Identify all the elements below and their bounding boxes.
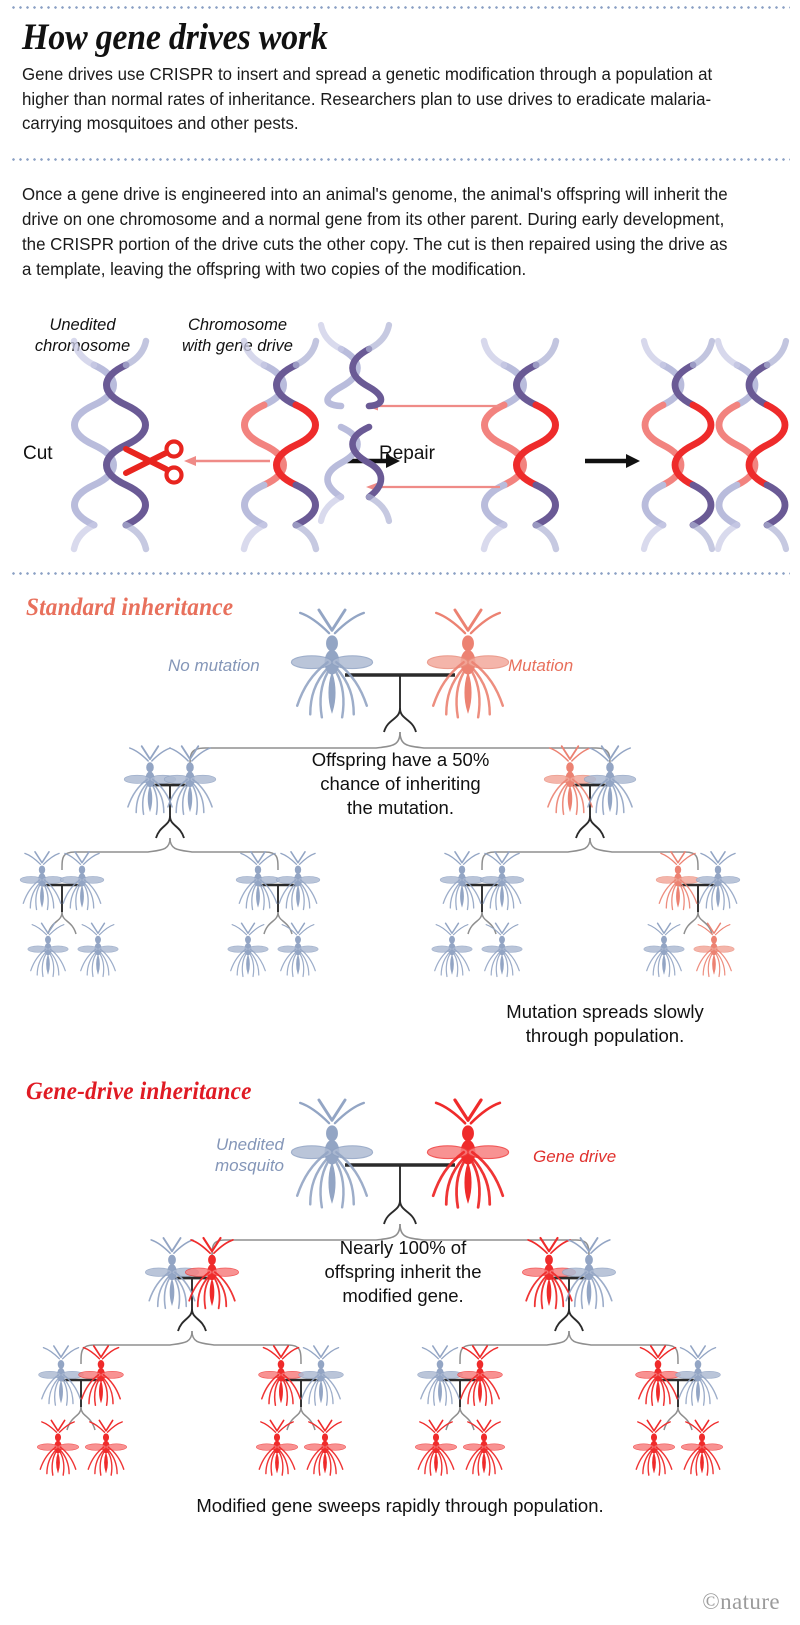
helix-fragment-top — [321, 325, 389, 406]
standfirst-text: Gene drives use CRISPR to insert and spr… — [22, 62, 740, 136]
mosquito-gen4-4 — [278, 923, 318, 976]
helix-result-left — [644, 341, 712, 549]
helix-unedited — [74, 341, 146, 549]
mosquito-gen4-2 — [78, 923, 118, 976]
mosquito-gen1-mutant — [427, 610, 508, 717]
section-title-standard: Standard inheritance — [26, 594, 233, 622]
arrow-right-icon-2 — [585, 454, 640, 468]
mosquito-gd-gen1-normal — [291, 1100, 372, 1207]
mosquito-gd-gen3-4 — [299, 1346, 344, 1405]
mosquito-gen3-7 — [656, 852, 700, 910]
mosquito-gd-gen4-4 — [304, 1420, 345, 1475]
mosquito-gd-gen1-drive — [427, 1100, 508, 1207]
mosquito-gd-gen3-2 — [79, 1346, 124, 1405]
divider-top — [10, 6, 790, 9]
pedigree-standard — [0, 620, 800, 1040]
arrow-left-icon-repair-bottom — [366, 483, 500, 492]
mosquito-gen3-4 — [276, 852, 320, 910]
mosquito-gen4-7 — [644, 923, 684, 976]
mosquito-gen3-8 — [696, 852, 740, 910]
mosquito-gen4-8 — [694, 923, 734, 976]
helix-with-drive — [244, 341, 316, 549]
mosquito-gd-gen4-7 — [633, 1420, 674, 1475]
mosquito-gd-gen4-1 — [37, 1420, 78, 1475]
helix-result-right — [718, 341, 786, 549]
mosquito-gd-gen3-6 — [458, 1346, 503, 1405]
mosquito-gd-gen4-3 — [256, 1420, 297, 1475]
page-title: How gene drives work — [22, 16, 328, 59]
mosquito-gen3-2 — [60, 852, 104, 910]
dna-diagram: Unedited chromosome Chromosome with gene… — [0, 305, 800, 570]
mosquito-gen4-6 — [482, 923, 522, 976]
mosquito-gd-gen4-5 — [415, 1420, 456, 1475]
mosquito-gd-gen4-2 — [85, 1420, 126, 1475]
nature-credit: ©nature — [702, 1589, 780, 1615]
arrow-left-icon-cut — [184, 456, 270, 466]
mosquito-gd-gen3-3 — [259, 1346, 304, 1405]
infographic-page: How gene drives work Gene drives use CRI… — [0, 0, 800, 1625]
divider-after-standfirst — [10, 158, 790, 161]
mosquito-gen3-5 — [440, 852, 484, 910]
mosquito-gd-gen4-8 — [681, 1420, 722, 1475]
pedigree-genedrive — [0, 1110, 800, 1510]
mosquito-gd-gen3-7 — [636, 1346, 681, 1405]
mosquito-gen3-1 — [20, 852, 64, 910]
helix-repair — [484, 341, 556, 549]
mosquito-gen4-1 — [28, 923, 68, 976]
section-title-genedrive: Gene-drive inheritance — [26, 1078, 252, 1106]
scissors-icon — [126, 442, 182, 483]
mosquito-gd-gen4-6 — [463, 1420, 504, 1475]
mosquito-gen3-3 — [236, 852, 280, 910]
mosquito-gen1-normal — [291, 610, 372, 717]
mosquito-gd-gen3-5 — [418, 1346, 463, 1405]
divider-before-standard — [10, 572, 790, 575]
body-text: Once a gene drive is engineered into an … — [22, 182, 740, 282]
helix-fragment-bottom — [321, 427, 389, 521]
arrow-left-icon-repair-top — [366, 402, 500, 411]
mosquito-gen4-3 — [228, 923, 268, 976]
dna-svg — [0, 305, 800, 570]
mosquito-gd-gen3-1 — [39, 1346, 84, 1405]
mosquito-gd-gen3-8 — [676, 1346, 721, 1405]
mosquito-gen4-5 — [432, 923, 472, 976]
mosquito-gen3-6 — [480, 852, 524, 910]
